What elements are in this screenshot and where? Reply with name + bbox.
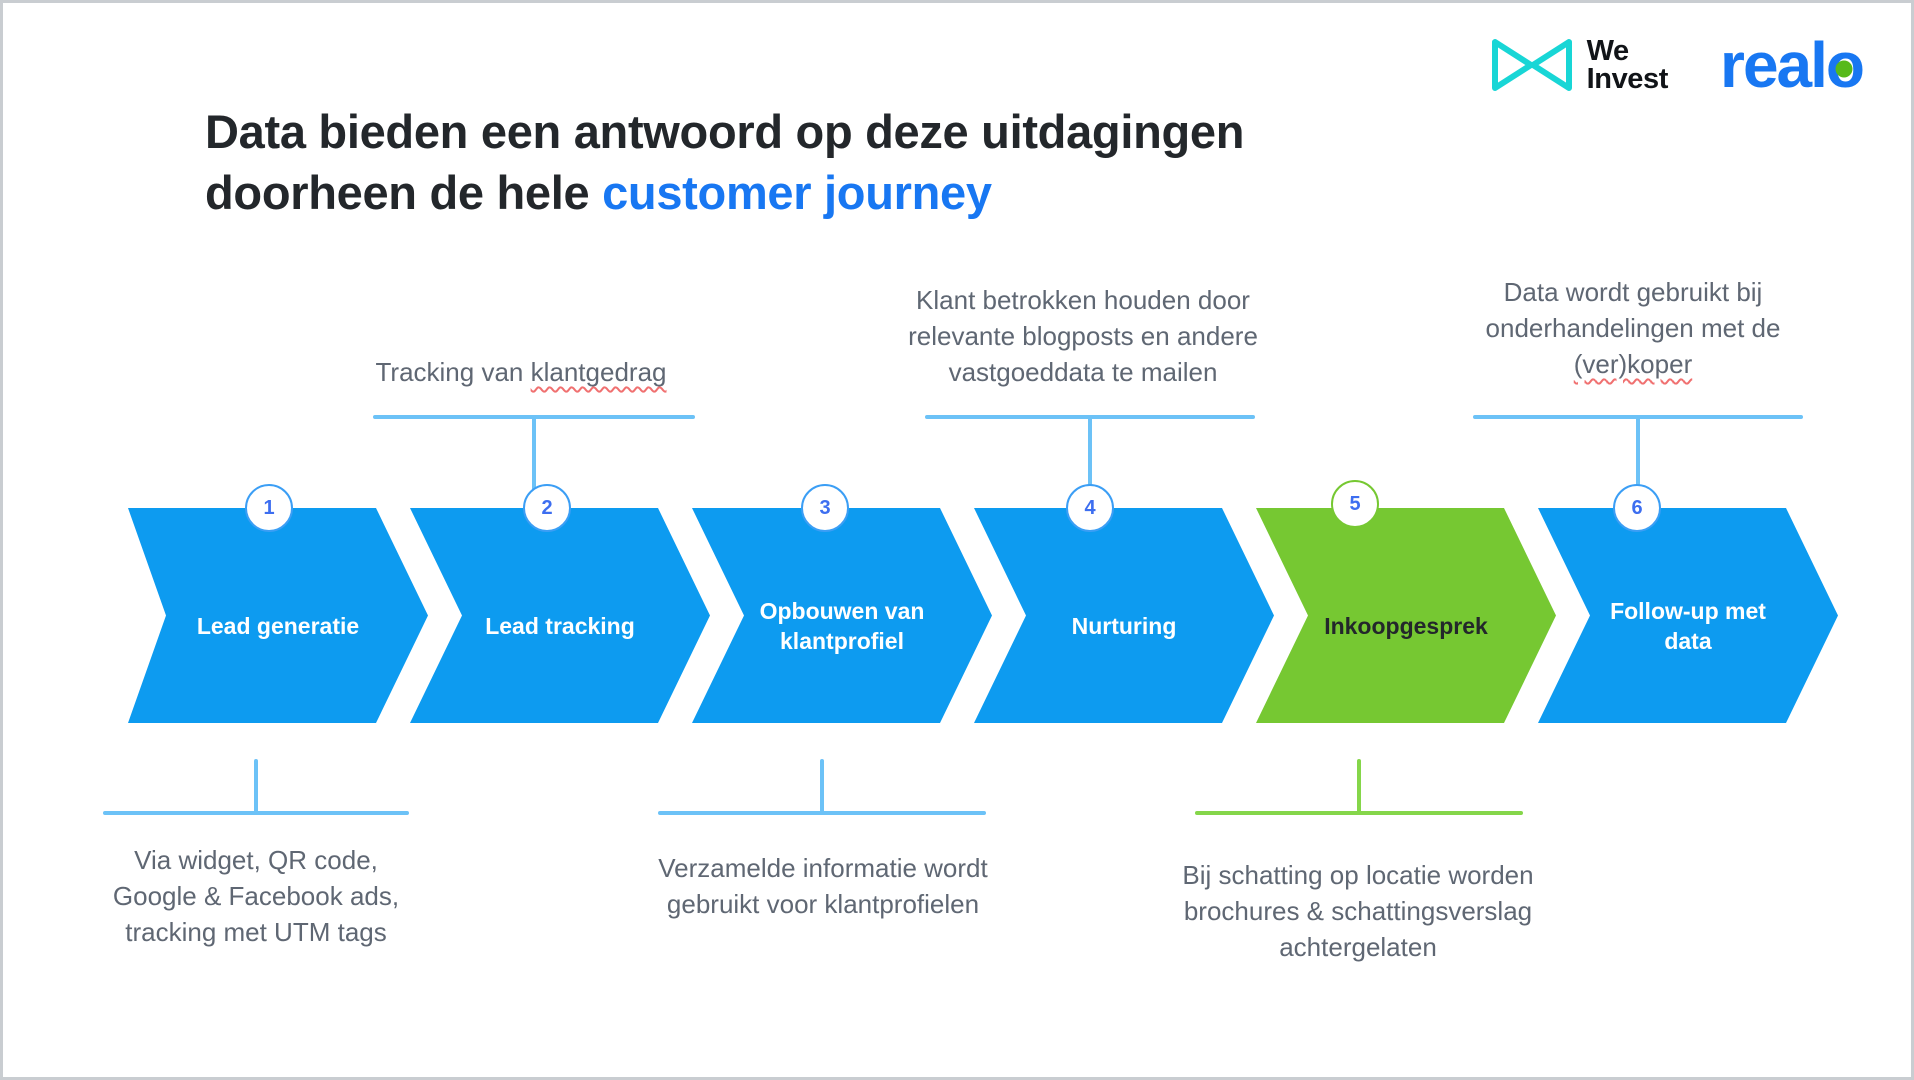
step-number-4: 4 <box>1084 497 1095 520</box>
step-number-3: 3 <box>819 497 830 520</box>
process-step-5-label: Inkoopgesprek <box>1290 612 1522 642</box>
logo-group: We Invest realo <box>1491 33 1863 97</box>
step-number-badge-5: 5 <box>1331 480 1379 528</box>
step-number-badge-3: 3 <box>801 484 849 532</box>
process-step-3[interactable]: Opbouwen van klantprofiel <box>692 508 992 723</box>
step-number-6: 6 <box>1631 497 1642 520</box>
process-step-6-label: Follow-up met data <box>1576 597 1800 657</box>
connector-bottom-step-3-stem <box>820 759 824 815</box>
page-title: Data bieden een antwoord op deze uitdagi… <box>205 101 1385 223</box>
annotation-step-3: Verzamelde informatie wordt gebruikt voo… <box>623 851 1023 923</box>
connector-bottom-step-1 <box>103 759 409 815</box>
connector-bottom-step-5 <box>1195 759 1523 815</box>
annotation-step-4: Klant betrokken houden door relevante bl… <box>883 283 1283 391</box>
realo-o-glyph: o <box>1826 33 1863 97</box>
step-number-badge-4: 4 <box>1066 484 1114 532</box>
step-number-1: 1 <box>263 497 274 520</box>
realo-wordmark-text: real <box>1720 33 1826 97</box>
process-step-2[interactable]: Lead tracking <box>410 508 710 723</box>
process-chevron-row: Lead generatie Lead tracking Opbouwen va… <box>128 508 1796 723</box>
step-number-badge-6: 6 <box>1613 484 1661 532</box>
step-number-badge-2: 2 <box>523 484 571 532</box>
annotation-step-6-misspelled: (ver)koper <box>1574 349 1692 379</box>
connector-bottom-step-1-stem <box>254 759 258 815</box>
we-invest-bowtie-icon <box>1491 36 1573 94</box>
step-number-5: 5 <box>1349 493 1360 516</box>
process-step-2-label: Lead tracking <box>451 612 669 642</box>
process-step-4-label: Nurturing <box>1038 612 1211 642</box>
annotation-step-2: Tracking van klantgedrag <box>341 355 701 391</box>
connector-bottom-step-3 <box>658 759 986 815</box>
process-step-1-label: Lead generatie <box>163 612 393 642</box>
title-line-1: Data bieden een antwoord op deze uitdagi… <box>205 105 1244 158</box>
title-line-2-plain: doorheen de hele <box>205 166 602 219</box>
annotation-step-5: Bij schatting op locatie worden brochure… <box>1148 858 1568 966</box>
step-number-badge-1: 1 <box>245 484 293 532</box>
process-step-1[interactable]: Lead generatie <box>128 508 428 723</box>
process-step-6[interactable]: Follow-up met data <box>1538 508 1838 723</box>
realo-logo: realo <box>1720 33 1863 97</box>
annotation-step-2-text: Tracking van <box>376 357 531 387</box>
title-line-2-highlight: customer journey <box>602 166 992 219</box>
annotation-step-4-text: Klant betrokken houden door relevante bl… <box>908 285 1258 387</box>
annotation-step-6-text: Data wordt gebruikt bij onderhandelingen… <box>1486 277 1781 343</box>
process-step-5[interactable]: Inkoopgesprek <box>1256 508 1556 723</box>
process-step-3-label: Opbouwen van klantprofiel <box>726 597 959 657</box>
realo-green-dot-icon <box>1836 60 1853 77</box>
annotation-step-1-text: Via widget, QR code, Google & Facebook a… <box>113 845 399 947</box>
we-invest-line1: We <box>1587 37 1668 65</box>
annotation-step-3-text: Verzamelde informatie wordt gebruikt voo… <box>658 853 987 919</box>
connector-bottom-step-5-stem <box>1357 759 1361 815</box>
we-invest-logo: We Invest <box>1491 36 1668 94</box>
slide-canvas: We Invest realo Data bieden een antwoord… <box>0 0 1914 1080</box>
annotation-step-6: Data wordt gebruikt bij onderhandelingen… <box>1443 275 1823 383</box>
process-step-4[interactable]: Nurturing <box>974 508 1274 723</box>
annotation-step-5-text: Bij schatting op locatie worden brochure… <box>1182 860 1533 962</box>
annotation-step-2-misspelled: klantgedrag <box>531 357 667 387</box>
step-number-2: 2 <box>541 497 552 520</box>
annotation-step-1: Via widget, QR code, Google & Facebook a… <box>81 843 431 951</box>
we-invest-line2: Invest <box>1587 65 1668 93</box>
we-invest-wordmark: We Invest <box>1587 37 1668 94</box>
